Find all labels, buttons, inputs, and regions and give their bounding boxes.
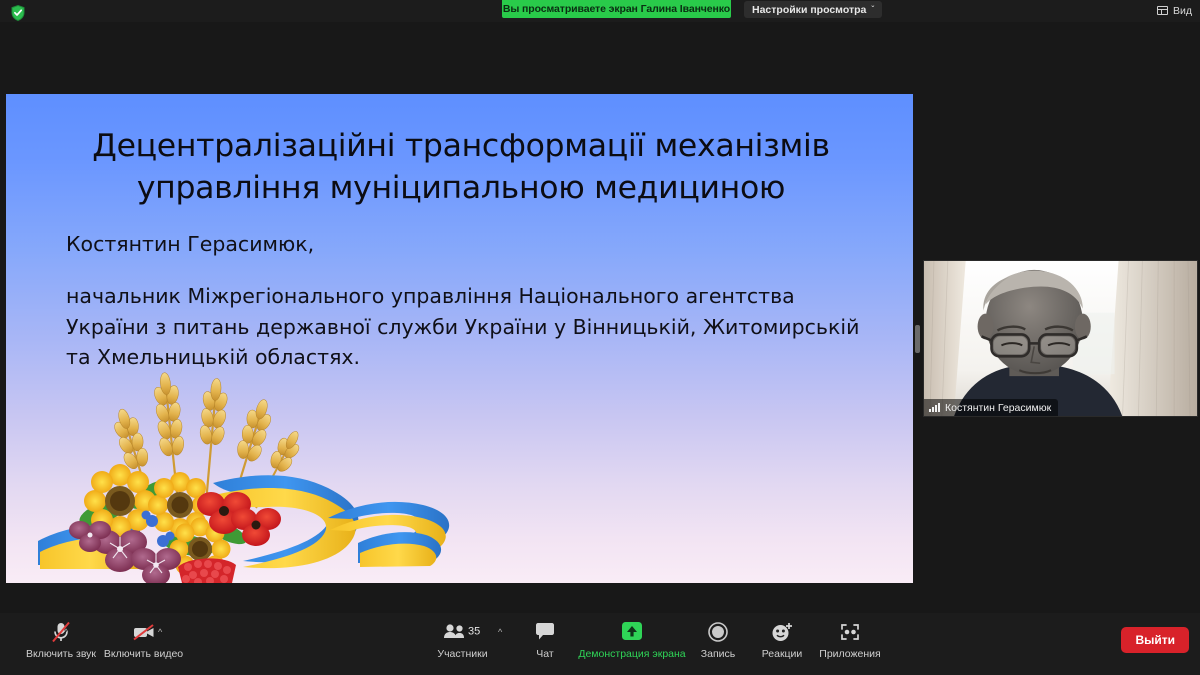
ukrainian-bouquet-decoration xyxy=(28,353,458,583)
participant-video-feed xyxy=(924,261,1197,417)
participants-options-chevron-icon[interactable]: ^ xyxy=(498,627,502,637)
view-button[interactable]: Вид xyxy=(1157,2,1192,19)
toolbar-participants-label: Участники xyxy=(437,649,487,660)
signal-bars-icon xyxy=(929,403,940,412)
chat-bubble-icon xyxy=(534,619,556,645)
grid-view-icon xyxy=(1157,6,1168,15)
video-options-chevron-icon[interactable]: ^ xyxy=(158,627,162,637)
toolbar-record-label: Запись xyxy=(701,649,735,660)
participant-video-tile[interactable]: Костянтин Герасимюк xyxy=(923,260,1198,417)
leave-meeting-button[interactable]: Выйти xyxy=(1121,627,1189,653)
slide-presenter-name: Костянтин Герасимюк, xyxy=(66,229,866,260)
zoom-meeting-window: Вы просматриваете экран Галина Іванченко… xyxy=(0,0,1200,675)
video-panel-drag-handle[interactable] xyxy=(915,325,920,353)
record-circle-icon xyxy=(707,619,729,645)
screen-share-banner-text: Вы просматриваете экран Галина Іванченко xyxy=(503,3,730,15)
screen-share-banner: Вы просматриваете экран Галина Іванченко xyxy=(502,0,731,18)
toolbar-participants-button[interactable]: 35 Участники xyxy=(420,619,505,669)
toolbar-share-screen-button[interactable]: Демонстрация экрана xyxy=(562,619,702,669)
shared-screen-slide[interactable]: Децентралізаційні трансформації механізм… xyxy=(6,94,913,583)
toolbar-video-label: Включить видео xyxy=(104,649,183,660)
chevron-down-icon: ˇ xyxy=(871,5,874,14)
toolbar-reactions-label: Реакции xyxy=(762,649,803,660)
view-button-label: Вид xyxy=(1173,5,1192,17)
meeting-toolbar: Включить звук ^ Включить видео ^ xyxy=(0,613,1200,675)
microphone-muted-icon xyxy=(50,619,72,645)
screen-share-up-arrow-icon xyxy=(620,619,644,645)
toolbar-share-screen-label: Демонстрация экрана xyxy=(578,649,685,660)
toolbar-apps-label: Приложения xyxy=(819,649,880,660)
view-settings-label: Настройки просмотра xyxy=(752,4,866,16)
top-bar: Вы просматриваете экран Галина Іванченко… xyxy=(0,0,1200,22)
reactions-smiley-plus-icon xyxy=(770,619,794,645)
svg-text:35: 35 xyxy=(468,626,480,638)
slide-title: Децентралізаційні трансформації механізм… xyxy=(46,126,876,209)
participants-icon: 35 xyxy=(442,619,484,645)
audio-options-chevron-icon[interactable]: ^ xyxy=(64,627,68,637)
slide-body: Костянтин Герасимюк, начальник Міжрегіон… xyxy=(66,229,866,373)
view-settings-dropdown[interactable]: Настройки просмотра ˇ xyxy=(744,1,882,18)
toolbar-record-button[interactable]: Запись xyxy=(690,619,746,669)
shield-check-icon[interactable] xyxy=(9,4,27,22)
toolbar-video-button[interactable]: Включить видео xyxy=(86,619,201,669)
toolbar-apps-button[interactable]: Приложения xyxy=(812,619,888,669)
apps-bracket-icon xyxy=(839,619,861,645)
participant-name-label: Костянтин Герасимюк xyxy=(945,402,1051,414)
toolbar-chat-label: Чат xyxy=(536,649,553,660)
participant-name-badge: Костянтин Герасимюк xyxy=(924,399,1058,416)
camera-muted-icon xyxy=(131,619,157,645)
toolbar-reactions-button[interactable]: Реакции xyxy=(752,619,812,669)
